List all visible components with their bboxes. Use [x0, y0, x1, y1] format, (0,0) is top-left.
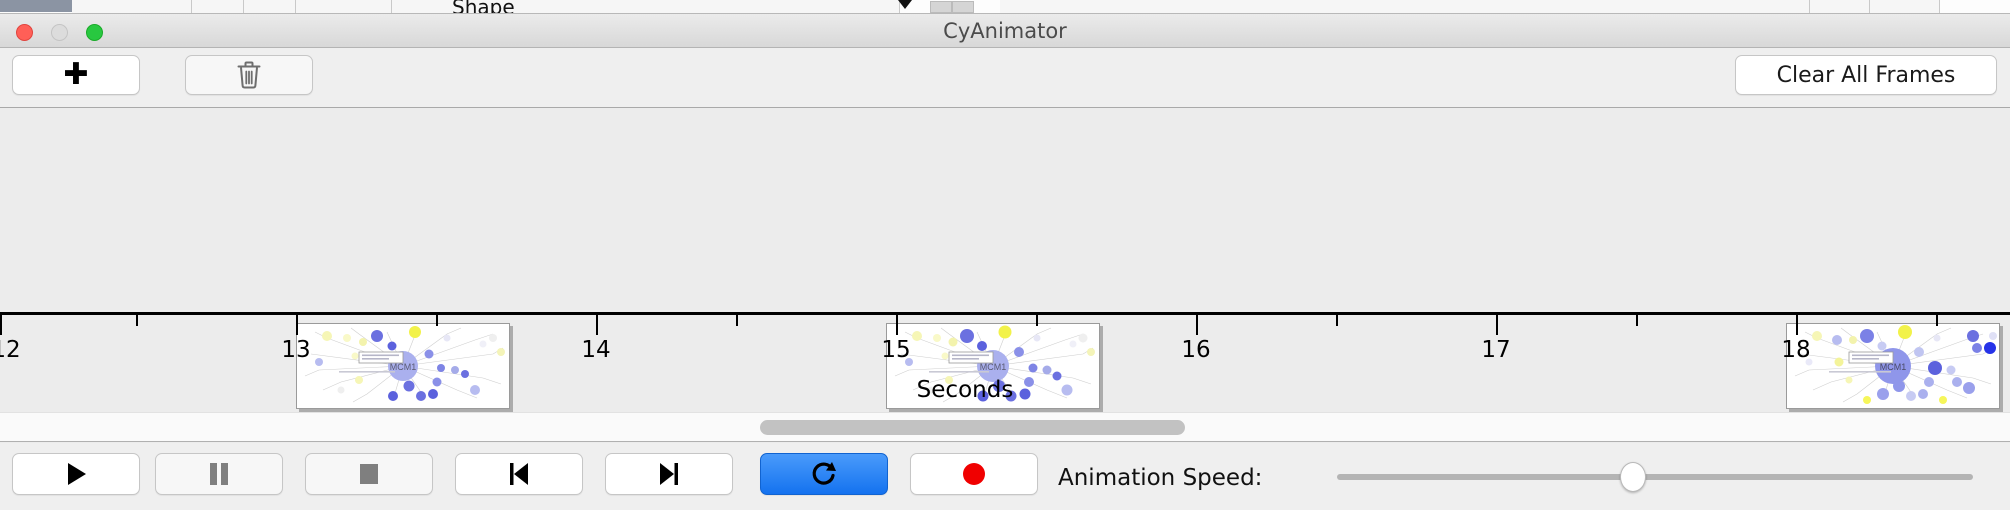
timeline-scrollbar[interactable]: [0, 412, 2010, 442]
axis-tick-minor: [1936, 315, 1938, 326]
axis-tick-major: [0, 315, 2, 335]
skip-to-start-button[interactable]: [455, 453, 583, 495]
delete-frame-button[interactable]: [185, 55, 313, 95]
play-icon: [64, 461, 88, 487]
play-button[interactable]: [12, 453, 140, 495]
skip-to-start-icon: [508, 461, 530, 487]
axis-tick-minor: [136, 315, 138, 326]
background-box: [930, 1, 952, 13]
background-segment: [244, 0, 296, 13]
background-segment: [72, 0, 192, 13]
skip-to-end-button[interactable]: [605, 453, 733, 495]
axis-tick-minor: [736, 315, 738, 326]
title-bar: CyAnimator: [0, 14, 2010, 48]
timeline-scrollbar-thumb[interactable]: [760, 420, 1185, 435]
axis-tick-minor: [1636, 315, 1638, 326]
axis-tick-label: 14: [581, 337, 610, 363]
background-window-strip: Shape: [0, 0, 2010, 14]
timeline-axis: 12 13 14 15 16 17 18 Seconds: [0, 305, 2010, 400]
axis-tick-label: 18: [1781, 337, 1810, 363]
axis-tick-label: 17: [1481, 337, 1510, 363]
axis-tick-major: [1496, 315, 1498, 335]
trash-icon: [236, 60, 262, 90]
cyanimator-window: Shape CyAnimator ✚ Clear All Frames: [0, 0, 2010, 510]
background-segment: [1000, 0, 1810, 13]
background-box: [952, 1, 974, 13]
animation-speed-label: Animation Speed:: [1058, 465, 1262, 491]
axis-tick-minor: [436, 315, 438, 326]
pause-button[interactable]: [155, 453, 283, 495]
axis-caption-text: Seconds: [917, 377, 1014, 403]
axis-tick-minor: [1336, 315, 1338, 326]
frames-timeline-canvas[interactable]: MCM1: [0, 109, 2010, 312]
axis-tick-label: 12: [0, 337, 21, 363]
axis-tick-major: [296, 315, 298, 335]
loop-button[interactable]: [760, 453, 888, 495]
axis-tick-major: [1796, 315, 1798, 335]
window-title: CyAnimator: [0, 14, 2010, 48]
stop-icon: [358, 462, 380, 486]
axis-caption: Seconds: [0, 377, 2010, 403]
axis-tick-minor: [1036, 315, 1038, 326]
pause-icon: [208, 461, 230, 487]
background-caret-icon: [898, 0, 912, 9]
axis-line: [0, 312, 2010, 315]
playback-bar: Animation Speed:: [0, 443, 2010, 510]
axis-tick-major: [896, 315, 898, 335]
axis-tick-major: [1196, 315, 1198, 335]
plus-icon: ✚: [63, 60, 88, 90]
animation-speed-slider-thumb[interactable]: [1620, 462, 1646, 492]
record-button[interactable]: [910, 453, 1038, 495]
skip-to-end-icon: [658, 461, 680, 487]
axis-tick-label: 16: [1181, 337, 1210, 363]
background-segment: [1870, 0, 1940, 13]
stop-button[interactable]: [305, 453, 433, 495]
clear-all-frames-button[interactable]: Clear All Frames: [1735, 55, 1997, 95]
background-segment: [296, 0, 392, 13]
loop-icon: [811, 460, 837, 488]
background-segment: [192, 0, 244, 13]
clear-all-frames-label: Clear All Frames: [1777, 63, 1956, 88]
animation-speed-slider[interactable]: [1337, 474, 1973, 480]
axis-tick-label: 15: [881, 337, 910, 363]
background-segment: [1810, 0, 1870, 13]
background-tab: [0, 0, 72, 12]
add-frame-button[interactable]: ✚: [12, 55, 140, 95]
axis-tick-label: 13: [281, 337, 310, 363]
record-icon: [961, 461, 987, 487]
background-shape-label: Shape: [452, 0, 515, 14]
axis-tick-major: [596, 315, 598, 335]
